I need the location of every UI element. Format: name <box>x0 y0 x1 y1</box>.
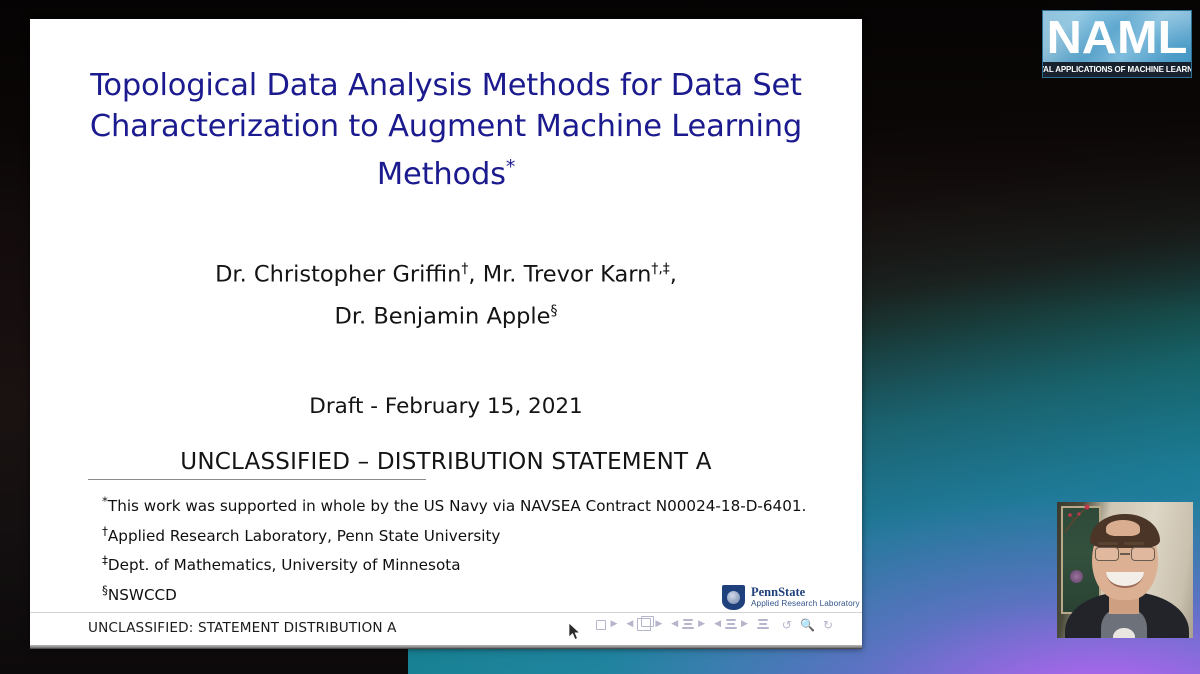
naml-tagline-band: NAVAL APPLICATIONS OF MACHINE LEARNING <box>1043 62 1191 77</box>
author-karn-marker: †,‡ <box>651 261 669 277</box>
naml-logo: NAML NAVAL APPLICATIONS OF MACHINE LEARN… <box>1042 10 1192 78</box>
back-arrow-icon[interactable]: ↺ <box>782 619 792 631</box>
mouse-cursor-icon <box>569 623 582 641</box>
naml-tagline: NAVAL APPLICATIONS OF MACHINE LEARNING <box>1042 65 1192 74</box>
author-apple: Dr. Benjamin Apple <box>335 303 551 329</box>
slide-box-icon[interactable] <box>596 620 606 630</box>
footnote-block: *This work was supported in whole by the… <box>88 489 818 607</box>
footnote-text: NSWCCD <box>108 586 177 604</box>
screen-capture: Topological Data Analysis Methods for Da… <box>0 0 1200 674</box>
title-line-3: Methods <box>377 157 506 192</box>
author-griffin: Dr. Christopher Griffin <box>215 262 461 288</box>
next-frame-triangle-icon[interactable]: ▶ <box>655 620 662 629</box>
title-line-1: Topological Data Analysis Methods for Da… <box>90 68 802 103</box>
pennstate-name: PennState <box>751 586 860 600</box>
title-line-2: Characterization to Augment Machine Lear… <box>90 109 802 144</box>
glasses-lens-left <box>1095 547 1119 561</box>
beamer-navigation-bar[interactable]: ▶ ◀ ▶ ◀ ▶ ◀ ▶ <box>596 618 842 631</box>
document-stack-icon[interactable] <box>757 619 769 630</box>
glasses-lens-right <box>1131 547 1155 561</box>
pennstate-shield-icon <box>722 585 745 610</box>
search-icon[interactable]: 🔍 <box>800 619 815 631</box>
nav-group-slide[interactable]: ▶ <box>596 620 617 630</box>
glasses-bridge <box>1120 553 1130 555</box>
forward-arrow-icon[interactable]: ↻ <box>823 619 833 631</box>
pennstate-subtitle: Applied Research Laboratory <box>751 600 860 609</box>
footnote-text: This work was supported in whole by the … <box>108 497 806 515</box>
naml-wordmark: NAML <box>1042 12 1192 62</box>
nav-group-subsection[interactable]: ◀ ▶ <box>671 619 705 630</box>
nav-group-section[interactable]: ◀ ▶ <box>714 619 748 630</box>
section-stack-icon[interactable] <box>725 619 737 630</box>
footnote-item: †Applied Research Laboratory, Penn State… <box>88 519 818 549</box>
draft-date: Draft - February 15, 2021 <box>30 394 862 419</box>
author-list: Dr. Christopher Griffin†, Mr. Trevor Kar… <box>90 251 802 334</box>
title-footnote-marker: * <box>506 156 515 178</box>
slide-title: Topological Data Analysis Methods for Da… <box>68 65 824 195</box>
subsection-stack-icon[interactable] <box>682 619 694 630</box>
author-apple-marker: § <box>551 303 558 319</box>
footnote-item: ‡Dept. of Mathematics, University of Min… <box>88 548 818 578</box>
footnote-text: Applied Research Laboratory, Penn State … <box>108 527 500 545</box>
webcam-person-eyebrow-left <box>1098 542 1118 545</box>
footnote-item: §NSWCCD <box>88 578 818 608</box>
next-section-triangle-icon[interactable]: ▶ <box>741 620 748 629</box>
footer-classification-text: UNCLASSIFIED: STATEMENT DISTRIBUTION A <box>88 620 397 636</box>
footnote-divider <box>88 479 426 480</box>
footnote-text: Dept. of Mathematics, University of Minn… <box>108 556 461 574</box>
frame-cube-icon[interactable] <box>637 618 651 631</box>
next-subsection-triangle-icon[interactable]: ▶ <box>698 620 705 629</box>
slide-drop-shadow <box>30 645 862 649</box>
pennstate-logo-text: PennState Applied Research Laboratory <box>751 586 860 608</box>
slide-content: Topological Data Analysis Methods for Da… <box>30 19 862 647</box>
presenter-video-thumbnail[interactable] <box>1057 502 1193 638</box>
presentation-slide[interactable]: Topological Data Analysis Methods for Da… <box>30 19 862 647</box>
classification-statement: UNCLASSIFIED – DISTRIBUTION STATEMENT A <box>30 449 862 475</box>
nav-group-history[interactable]: ↺ 🔍 ↻ <box>778 619 833 631</box>
next-slide-triangle-icon[interactable]: ▶ <box>610 620 617 629</box>
pennstate-arl-logo: PennState Applied Research Laboratory <box>722 585 860 610</box>
nav-group-document[interactable] <box>757 619 769 630</box>
prev-frame-triangle-icon[interactable]: ◀ <box>626 620 633 629</box>
author-separator-2: , <box>670 262 677 288</box>
author-separator-1: , Mr. Trevor Karn <box>468 262 651 288</box>
prev-subsection-triangle-icon[interactable]: ◀ <box>671 620 678 629</box>
webcam-person-eyebrow-right <box>1124 542 1144 545</box>
webcam-person-glasses <box>1093 547 1157 562</box>
slide-footer-bar: UNCLASSIFIED: STATEMENT DISTRIBUTION A ▶… <box>30 612 862 647</box>
footnote-item: *This work was supported in whole by the… <box>88 489 818 519</box>
prev-section-triangle-icon[interactable]: ◀ <box>714 620 721 629</box>
nav-group-frame[interactable]: ◀ ▶ <box>626 618 662 631</box>
